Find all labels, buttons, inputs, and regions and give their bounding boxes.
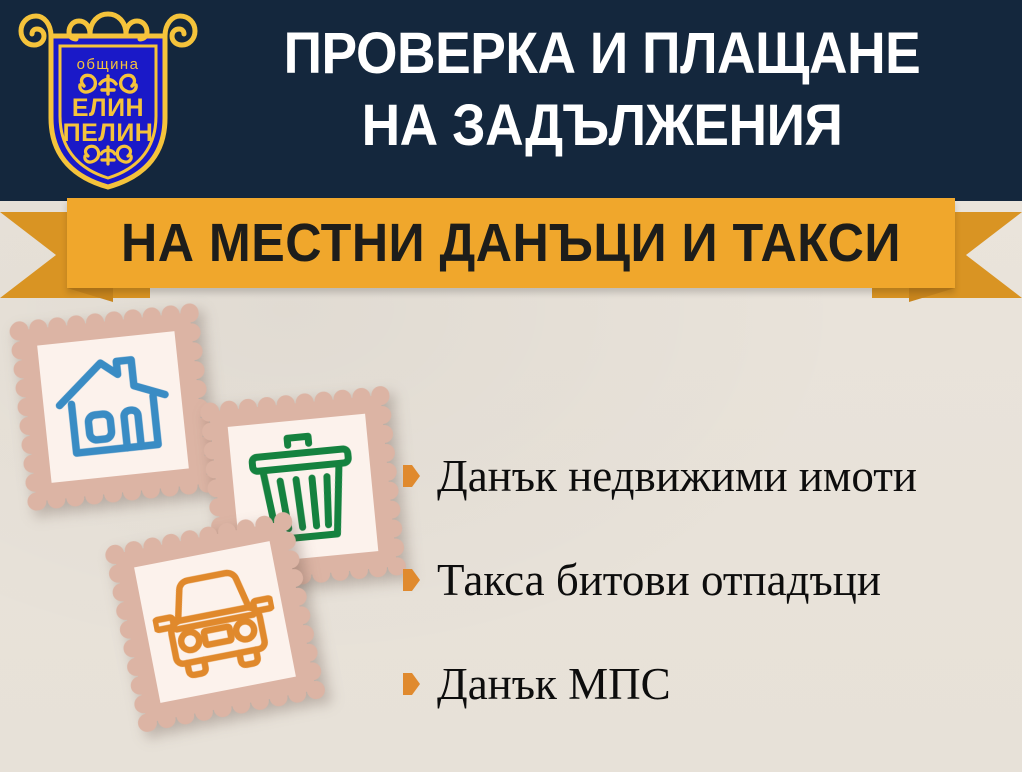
municipality-logo: община ЕЛИН ПЕЛИН (18, 6, 198, 196)
list-item-label: Данък недвижими имоти (437, 450, 917, 502)
stamp-scallop (374, 424, 394, 444)
stamp-scallop (349, 560, 369, 580)
list-item[interactable]: Данък недвижими имоти (403, 424, 1013, 528)
arrow-bullet-icon (403, 465, 420, 487)
stamp-scallop (186, 360, 206, 380)
list-item-label: Такса битови отпадъци (437, 554, 881, 606)
header-bar: община ЕЛИН ПЕЛИН (0, 0, 1022, 201)
stamp-scallop (178, 476, 198, 496)
tax-types-list: Данък недвижими имоти Такса битови отпад… (403, 424, 1013, 736)
stamp-card-property (9, 303, 218, 512)
stamp-scallop (46, 490, 66, 510)
svg-text:ПЕЛИН: ПЕЛИН (63, 119, 154, 147)
stamp-scallop (103, 484, 123, 504)
list-item[interactable]: Такса битови отпадъци (403, 528, 1013, 632)
stamp-scallop (65, 488, 85, 508)
arrow-bullet-icon (403, 569, 420, 591)
car-icon (134, 541, 296, 703)
house-icon (37, 331, 189, 483)
stamp-card-vehicle (104, 511, 327, 734)
page-title: ПРОВЕРКА И ПЛАЩАНЕ НА ЗАДЪЛЖЕНИЯ (228, 18, 975, 162)
stamp-scallop (380, 480, 400, 500)
stamp-scallop (182, 322, 202, 342)
stamp-scallop (84, 486, 104, 506)
ribbon-label: НА МЕСТНИ ДАНЪЦИ И ТАКСИ (98, 198, 924, 288)
poster-canvas: община ЕЛИН ПЕЛИН (0, 0, 1022, 772)
stamp-scallop (184, 341, 204, 361)
stamp-scallop (376, 443, 396, 463)
svg-text:община: община (77, 56, 140, 73)
stamp-scallop (188, 379, 208, 399)
stamp-scallop (311, 564, 331, 584)
stamp-scallop (140, 480, 160, 500)
stamp-scallop (378, 461, 398, 481)
stamp-scallop (382, 499, 402, 519)
svg-text:ЕЛИН: ЕЛИН (72, 94, 144, 122)
stamp-scallop (383, 518, 403, 538)
list-item[interactable]: Данък МПС (403, 632, 1013, 736)
stamp-scallop (122, 482, 142, 502)
arrow-bullet-icon (403, 673, 420, 695)
stamp-scallop (368, 558, 388, 578)
stamp-scallop (385, 537, 405, 557)
list-item-label: Данък МПС (437, 658, 671, 710)
stamp-scallop (159, 478, 179, 498)
subtitle-ribbon: НА МЕСТНИ ДАНЪЦИ И ТАКСИ (0, 198, 1022, 306)
stamp-scallop (372, 405, 392, 425)
stamp-scallop (330, 562, 350, 582)
